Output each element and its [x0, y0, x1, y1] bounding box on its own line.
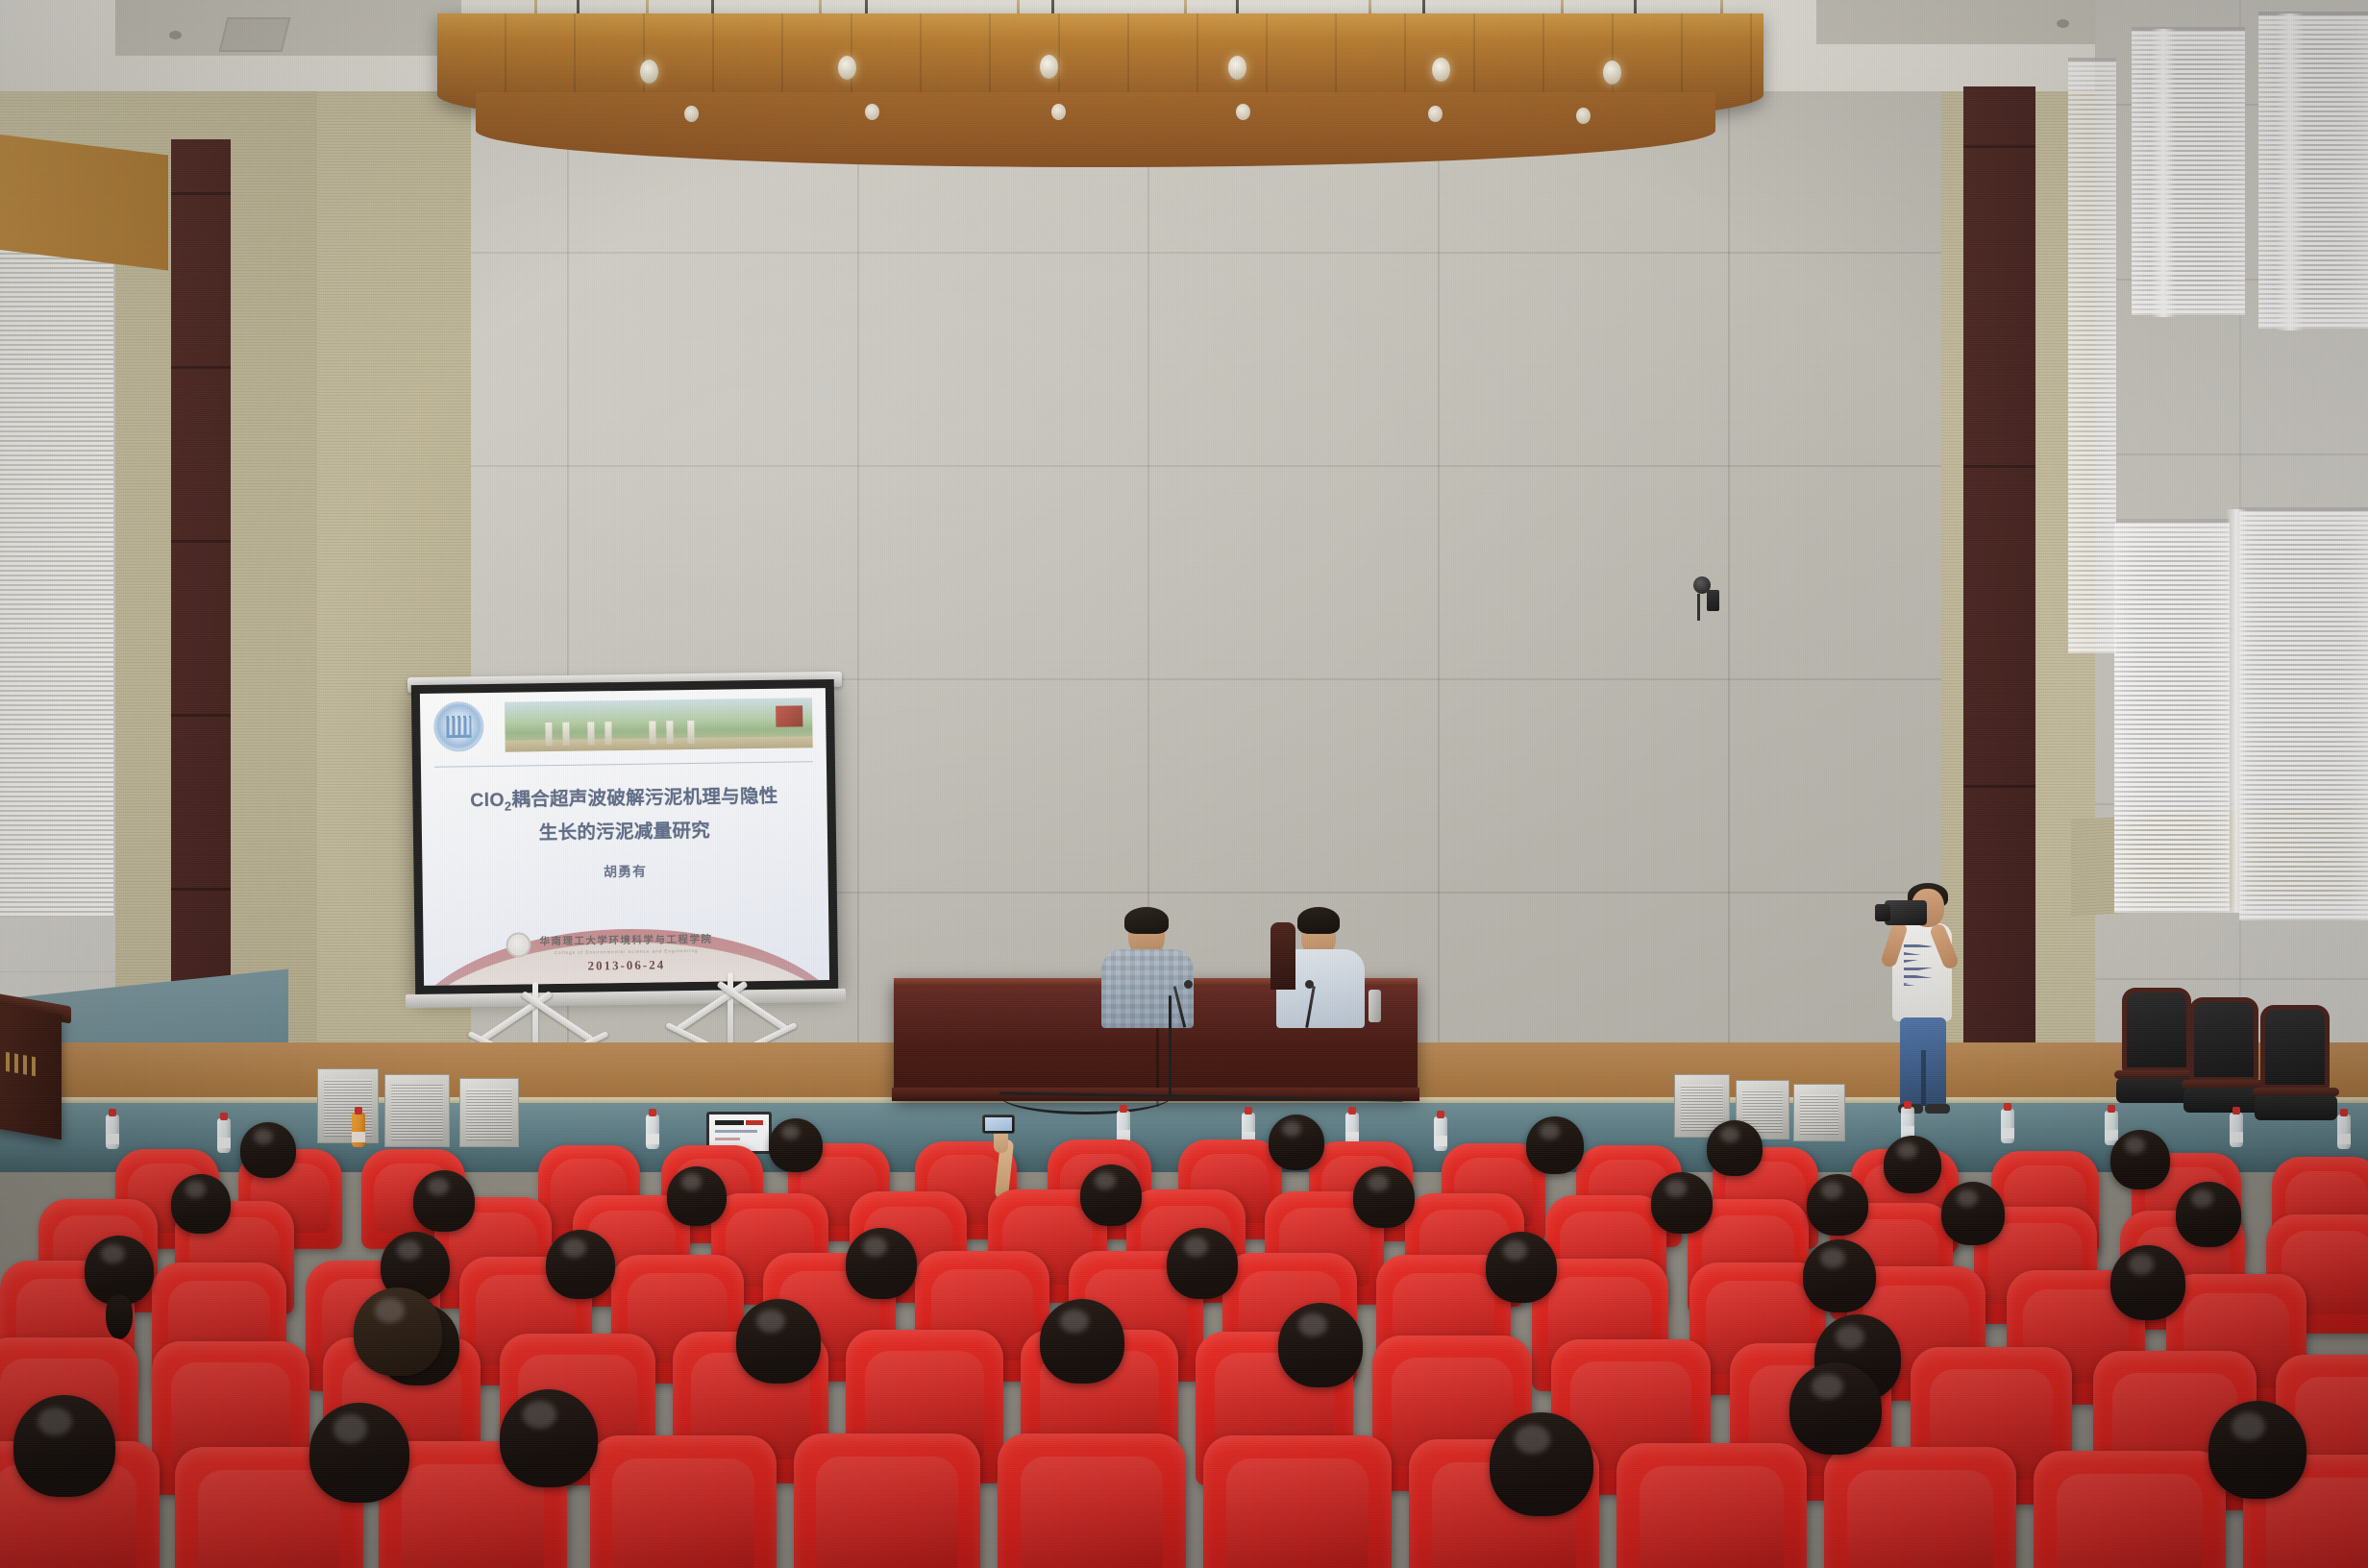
audience-head-b8 [1941, 1182, 2005, 1245]
hair-highlight [1812, 1374, 1843, 1400]
audience-head-b7 [1807, 1174, 1868, 1236]
canopy-downlight-3 [1040, 55, 1058, 79]
hair-highlight [1298, 1313, 1327, 1337]
audience-head-e5 [1789, 1362, 1882, 1455]
wood-acoustic-canopy-lower [476, 92, 1715, 167]
water-bottle-11 [2230, 1113, 2243, 1147]
dslr-camera-icon [1885, 900, 1927, 925]
microphone-right-head [1305, 980, 1314, 989]
smartphone-screen [985, 1117, 1012, 1131]
stage-speaker-2 [384, 1074, 450, 1147]
hair-highlight [1836, 1325, 1865, 1349]
window-light-streak-1 [2151, 29, 2176, 317]
audience-head-a3 [1269, 1115, 1324, 1170]
stage-speaker-3 [459, 1078, 519, 1147]
canopy-downlight-1 [640, 60, 658, 84]
audience-head-b1 [171, 1174, 231, 1234]
banner-red-flag [776, 705, 802, 726]
hair-highlight [781, 1125, 800, 1140]
canopy-downlight-lower-6 [1576, 108, 1591, 124]
hair-highlight [1957, 1189, 1978, 1207]
window-blind-far-left-upper [2068, 58, 2116, 653]
audience-head-c6 [1486, 1232, 1557, 1303]
hair-highlight [562, 1238, 585, 1258]
hair-highlight [1060, 1310, 1089, 1334]
audience-head-e3 [500, 1389, 598, 1487]
water-bottle-1 [106, 1115, 119, 1149]
hair-highlight [1821, 1182, 1842, 1199]
audience-head-a1 [240, 1122, 296, 1178]
hair-highlight [428, 1178, 449, 1195]
slide-title-line1-rest: 耦合超声波破解污泥机理与隐性 [511, 786, 777, 811]
thermos-flask [1369, 990, 1381, 1022]
hair-highlight [2232, 1412, 2265, 1440]
ceiling-recess-left [115, 0, 461, 56]
audience-head-e2 [309, 1403, 409, 1503]
left-wood-valance [0, 135, 168, 270]
water-bottle-7 [1434, 1116, 1447, 1151]
photographer-jeans [1900, 1017, 1946, 1106]
window-blind-lower-right2 [2239, 507, 2368, 920]
audience-head-d4 [1040, 1299, 1124, 1384]
hair-highlight [1095, 1172, 1116, 1189]
canopy-downlight-lower-1 [684, 106, 699, 122]
audience-head-a5 [1707, 1120, 1763, 1176]
hair-highlight [863, 1237, 887, 1257]
hair-highlight [2129, 1254, 2155, 1275]
slide-title: ClO2耦合超声波破解污泥机理与隐性 生长的污泥减量研究 [440, 782, 808, 847]
audience-head-e1 [13, 1395, 115, 1497]
side-chair-1-back [2122, 988, 2191, 1072]
slide-author: 胡勇有 [422, 859, 827, 884]
seat-e10[interactable] [1824, 1447, 2016, 1568]
orange-drink-bottle [352, 1113, 365, 1147]
audience-head-b5 [1353, 1166, 1415, 1228]
hair-highlight [681, 1173, 702, 1189]
canopy-downlight-5 [1432, 58, 1450, 82]
hair-highlight [185, 1181, 206, 1197]
audience-head-c4 [846, 1228, 917, 1299]
banner-pillar-2 [562, 723, 569, 746]
slide-title-line2: 生长的污泥减量研究 [539, 821, 710, 844]
seated-person-right-hair [1297, 907, 1340, 934]
banner-pillar-5 [649, 722, 655, 745]
canopy-downlight-lower-5 [1428, 106, 1443, 122]
audience-head-a7 [2110, 1130, 2170, 1189]
hair-highlight [2125, 1137, 2145, 1153]
hair-highlight [1515, 1425, 1550, 1454]
hair-highlight [1503, 1240, 1527, 1261]
laptop-screen-title [715, 1120, 744, 1125]
water-bottle-2 [217, 1118, 231, 1153]
hair-highlight [254, 1129, 273, 1144]
auditorium-photo: ClO2耦合超声波破解污泥机理与隐性 生长的污泥减量研究 胡勇有 华南理工大学环… [0, 0, 2368, 1568]
scut-university-seal-icon [433, 701, 484, 752]
window-blind-lower-right [2114, 519, 2230, 913]
ceiling-smoke-detector-left [169, 31, 182, 39]
hair-highlight [1665, 1180, 1687, 1197]
seat-e9[interactable] [1616, 1443, 1807, 1568]
hair-highlight [1540, 1123, 1559, 1139]
photographer-shoe-right [1925, 1104, 1950, 1114]
screen-tripod2-leg-center [728, 972, 733, 1051]
laptop-screen-line2 [715, 1138, 740, 1140]
water-bottle-3 [646, 1115, 659, 1149]
audience-head-d2 [354, 1287, 442, 1376]
campus-photo-banner [505, 698, 813, 751]
smartphone-icon[interactable] [982, 1115, 1015, 1134]
seat-e7[interactable] [1203, 1435, 1392, 1568]
audience-head-d5 [1278, 1303, 1363, 1387]
hair-highlight [1897, 1142, 1916, 1159]
banner-pillar-4 [604, 722, 611, 745]
hair-highlight [1282, 1121, 1301, 1137]
slide-organization: 华南理工大学环境科学与工程学院 [539, 932, 712, 949]
hair-highlight [2191, 1189, 2213, 1208]
ceiling-vent-left [219, 17, 291, 52]
window-blind-upper-right [2132, 27, 2245, 315]
audience-head-b4 [1080, 1164, 1142, 1226]
audience-head-c5 [1167, 1228, 1238, 1299]
banner-pillar-3 [587, 722, 594, 745]
right-dark-wall-strip [1963, 86, 2035, 1105]
banner-pillar-1 [545, 723, 552, 746]
laptop-screen-accent [746, 1120, 763, 1125]
slide-title-formula: ClO [470, 790, 505, 811]
canopy-downlight-6 [1603, 61, 1621, 85]
canopy-downlight-4 [1228, 56, 1246, 80]
seat-e11[interactable] [2034, 1451, 2226, 1568]
audience-ponytail-c1 [106, 1295, 133, 1339]
audience-head-e4 [1490, 1412, 1593, 1516]
water-bottle-12 [2337, 1115, 2351, 1149]
hair-highlight [375, 1298, 405, 1323]
seat-e6[interactable] [998, 1433, 1186, 1568]
water-bottle-9 [2001, 1109, 2014, 1143]
canopy-downlight-2 [838, 56, 856, 80]
hair-highlight [1368, 1174, 1389, 1191]
camera-body [1707, 590, 1719, 611]
canopy-downlight-lower-4 [1236, 104, 1250, 120]
head-table-chair-left [1270, 922, 1295, 990]
left-dark-wall-strip [171, 139, 231, 1062]
canopy-downlight-lower-2 [865, 104, 879, 120]
audience-head-b9 [2176, 1182, 2241, 1247]
stage-cable-3 [1169, 995, 1172, 1101]
slide-divider-rule [434, 761, 813, 768]
audience-head-a4 [1526, 1116, 1584, 1174]
left-window-blind [0, 245, 113, 918]
audience-head-a6 [1884, 1136, 1941, 1193]
hair-highlight [1820, 1248, 1845, 1268]
window-light-streak-3 [2226, 509, 2247, 913]
camera-bracket [1697, 594, 1700, 621]
projection-screen: ClO2耦合超声波破解污泥机理与隐性 生长的污泥减量研究 胡勇有 华南理工大学环… [413, 682, 836, 992]
seat-e5[interactable] [794, 1433, 980, 1568]
window-light-streak-2 [2276, 13, 2305, 331]
slide-header [420, 688, 826, 759]
hair-highlight [101, 1244, 124, 1263]
audience-head-b6 [1651, 1172, 1713, 1234]
hair-highlight [397, 1240, 420, 1260]
audience-head-d3 [736, 1299, 821, 1384]
hair-highlight [1184, 1237, 1208, 1257]
ceiling-smoke-detector-right [2057, 19, 2069, 28]
hair-highlight [37, 1408, 72, 1436]
hair-highlight [333, 1414, 367, 1442]
side-chair-3-back [2260, 1005, 2330, 1090]
laptop-screen-line1 [715, 1130, 757, 1133]
side-chair-2-back [2189, 997, 2258, 1082]
audience-head-c7 [1803, 1239, 1876, 1312]
microphone-left-head [1184, 980, 1193, 989]
audience-head-a2 [769, 1118, 823, 1172]
hair-highlight [756, 1310, 785, 1334]
banner-pillar-7 [687, 721, 694, 744]
canopy-downlight-lower-3 [1051, 104, 1066, 120]
screen-frame: ClO2耦合超声波破解污泥机理与隐性 生长的污泥减量研究 胡勇有 华南理工大学环… [411, 679, 838, 994]
hair-highlight [523, 1401, 556, 1429]
audience-head-b2 [413, 1170, 475, 1232]
slide-surface: ClO2耦合超声波破解污泥机理与隐性 生长的污泥减量研究 胡勇有 华南理工大学环… [420, 688, 829, 986]
audience-head-c8 [2110, 1245, 2185, 1320]
stage-speaker-6 [1793, 1084, 1845, 1141]
hair-highlight [1720, 1127, 1739, 1142]
audience-head-e6 [2208, 1401, 2306, 1499]
seated-person-left-hair [1124, 907, 1169, 934]
audience-head-b3 [667, 1166, 727, 1226]
audience-head-c3 [546, 1230, 615, 1299]
stage-speaker-1 [317, 1068, 379, 1143]
seat-e4[interactable] [590, 1435, 777, 1568]
banner-pillar-6 [666, 721, 673, 744]
side-chair-3-seat [2255, 1095, 2337, 1120]
